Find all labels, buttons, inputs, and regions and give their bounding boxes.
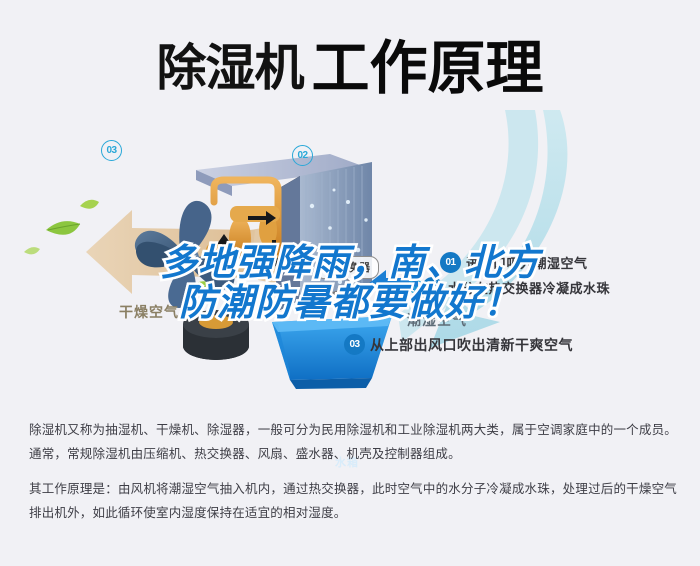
- heat-exchanger: [276, 162, 372, 312]
- step-badge-01: 01: [440, 252, 461, 273]
- dry-air-label: 干燥空气: [119, 302, 179, 322]
- step-row-03: 03 从上部出风口吹出清新干爽空气: [344, 334, 573, 355]
- paragraph-2: 其工作原理是：由风机将潮湿空气抽入机内，通过热交换器，此时空气中的水分子冷凝成水…: [29, 477, 677, 526]
- step-text-02: 水分在热交换器冷凝成水珠: [448, 278, 610, 297]
- step-text-03: 从上部出风口吹出清新干爽空气: [370, 335, 573, 355]
- paragraph-1: 除湿机又称为抽湿机、干燥机、除湿器，一般可分为民用除湿机和工业除湿机两大类，属于…: [29, 418, 677, 467]
- page-root: 除湿机 工作原理: [0, 0, 700, 566]
- step-row-01: 01 进风口吸入潮湿空气: [440, 252, 588, 273]
- badge-heat-exchanger: 02: [292, 145, 313, 166]
- badge-dry-air: 03: [101, 140, 122, 161]
- title-part-two: 工作原理: [311, 39, 543, 97]
- heat-exchanger-callout: 热交换器: [315, 256, 379, 279]
- step-badge-02: 02: [422, 277, 443, 298]
- title-part-one: 除湿机: [156, 43, 303, 93]
- step-row-02: 02 水分在热交换器冷凝成水珠: [422, 277, 610, 298]
- page-title: 除湿机 工作原理: [0, 30, 700, 105]
- compressor: [183, 310, 249, 360]
- humid-air-label: 潮湿空气: [407, 310, 467, 330]
- body-copy: 除湿机又称为抽湿机、干燥机、除湿器，一般可分为民用除湿机和工业除湿机两大类，属于…: [29, 418, 677, 536]
- step-text-01: 进风口吸入潮湿空气: [466, 253, 588, 272]
- step-badge-03: 03: [344, 334, 365, 355]
